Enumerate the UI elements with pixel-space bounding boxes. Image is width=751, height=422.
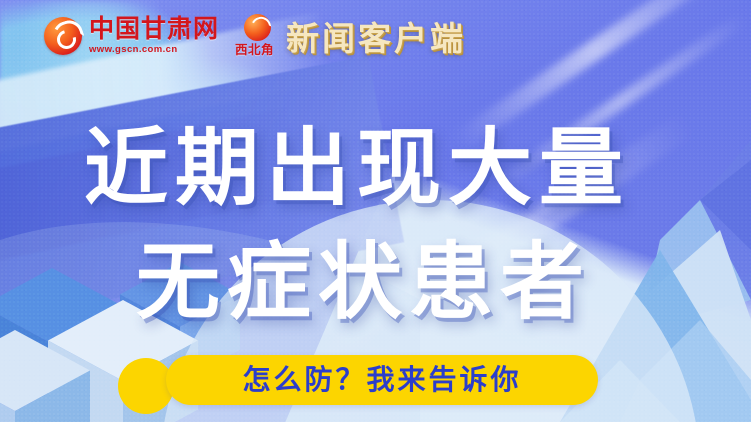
xibeijiao-seal-text: 西北角 bbox=[235, 39, 274, 58]
gansu-brand-name: 中国甘肃网 bbox=[89, 17, 219, 42]
xibeijiao-brand-block[interactable]: 西北角 新闻客户端 bbox=[235, 12, 466, 60]
callout-pill-label: 怎么防？我来告诉你 bbox=[242, 366, 521, 394]
xibeijiao-logo-group: 西北角 bbox=[235, 14, 279, 58]
gansu-brand-block[interactable]: 中国甘肃网 www.gscn.com.cn bbox=[44, 17, 219, 55]
xibeijiao-swirl-icon bbox=[244, 14, 271, 41]
headline-line-2: 无症状患者 bbox=[136, 240, 591, 324]
gansu-brand-url: www.gscn.com.cn bbox=[89, 45, 219, 55]
brand-header: 中国甘肃网 www.gscn.com.cn 西北角 新闻客户端 bbox=[44, 10, 466, 62]
yellow-dot-decoration bbox=[118, 358, 174, 414]
gansu-brand-text: 中国甘肃网 www.gscn.com.cn bbox=[89, 17, 219, 55]
app-name-label: 新闻客户端 bbox=[286, 12, 466, 60]
callout-pill[interactable]: 怎么防？我来告诉你 bbox=[166, 355, 598, 405]
headline-line-1: 近期出现大量 bbox=[84, 126, 630, 210]
poster-canvas: 中国甘肃网 www.gscn.com.cn 西北角 新闻客户端 近期出现大量 无… bbox=[0, 0, 751, 422]
gansu-g-swirl-icon bbox=[44, 17, 82, 55]
